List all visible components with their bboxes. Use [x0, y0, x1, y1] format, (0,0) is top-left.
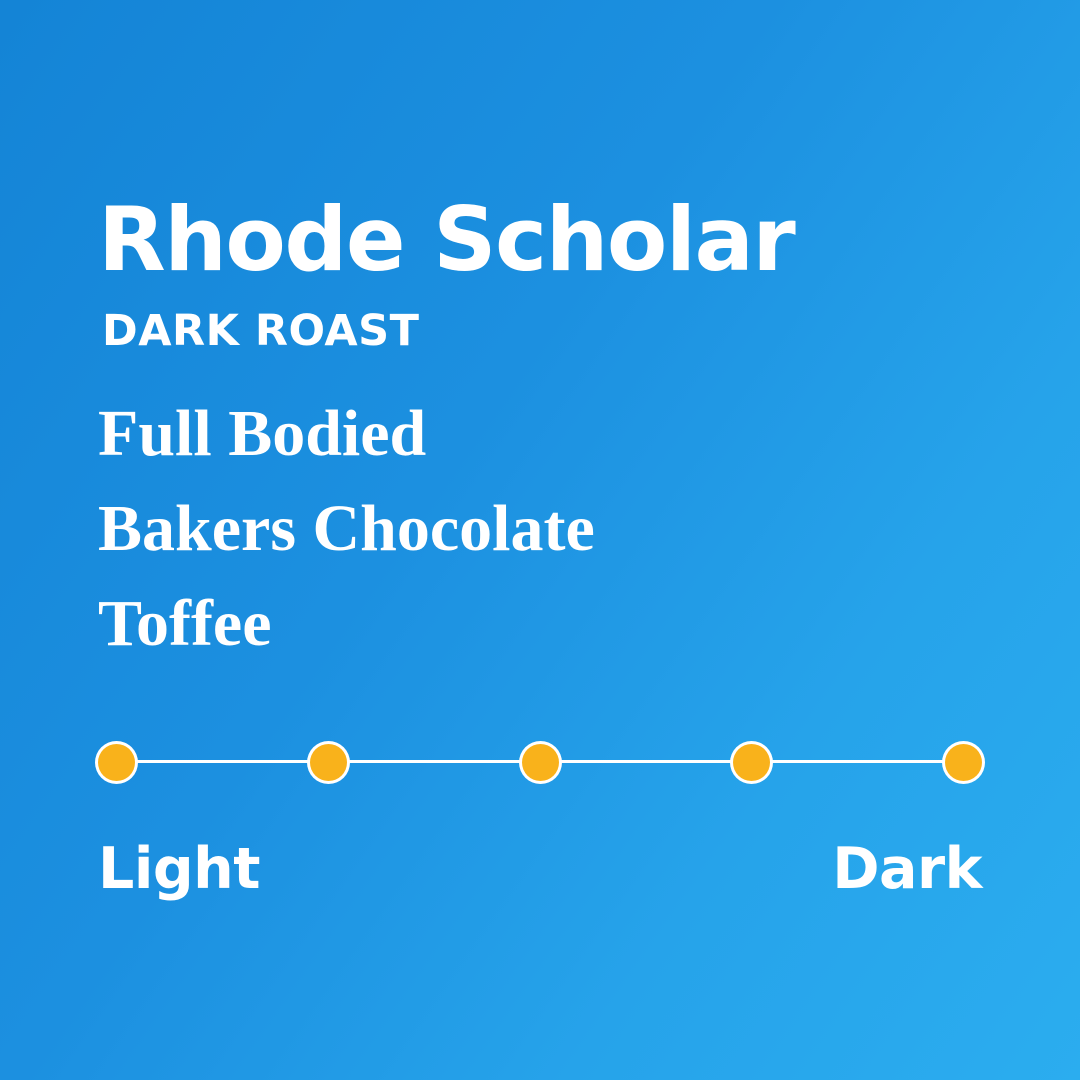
- roast-dot-1-icon: [98, 744, 135, 781]
- roast-scale-label-light: Light: [98, 836, 260, 902]
- roast-dot-3-icon: [522, 744, 559, 781]
- product-card: Rhode Scholar DARK ROAST Full Bodied Bak…: [0, 0, 1080, 1080]
- roast-scale-dots: [98, 742, 982, 782]
- product-title: Rhode Scholar: [98, 196, 1000, 284]
- product-info: Rhode Scholar DARK ROAST Full Bodied Bak…: [98, 196, 1000, 671]
- tasting-note-item: Toffee: [98, 576, 1000, 671]
- roast-type-label: DARK ROAST: [102, 306, 1000, 356]
- roast-scale-label-dark: Dark: [832, 836, 982, 902]
- roast-dot-5-icon: [945, 744, 982, 781]
- roast-dot-4-icon: [733, 744, 770, 781]
- roast-scale: [98, 742, 982, 782]
- roast-scale-labels: Light Dark: [98, 836, 982, 902]
- tasting-note-item: Bakers Chocolate: [98, 481, 1000, 576]
- roast-dot-2-icon: [310, 744, 347, 781]
- tasting-notes-list: Full Bodied Bakers Chocolate Toffee: [98, 386, 1000, 671]
- tasting-note-item: Full Bodied: [98, 386, 1000, 481]
